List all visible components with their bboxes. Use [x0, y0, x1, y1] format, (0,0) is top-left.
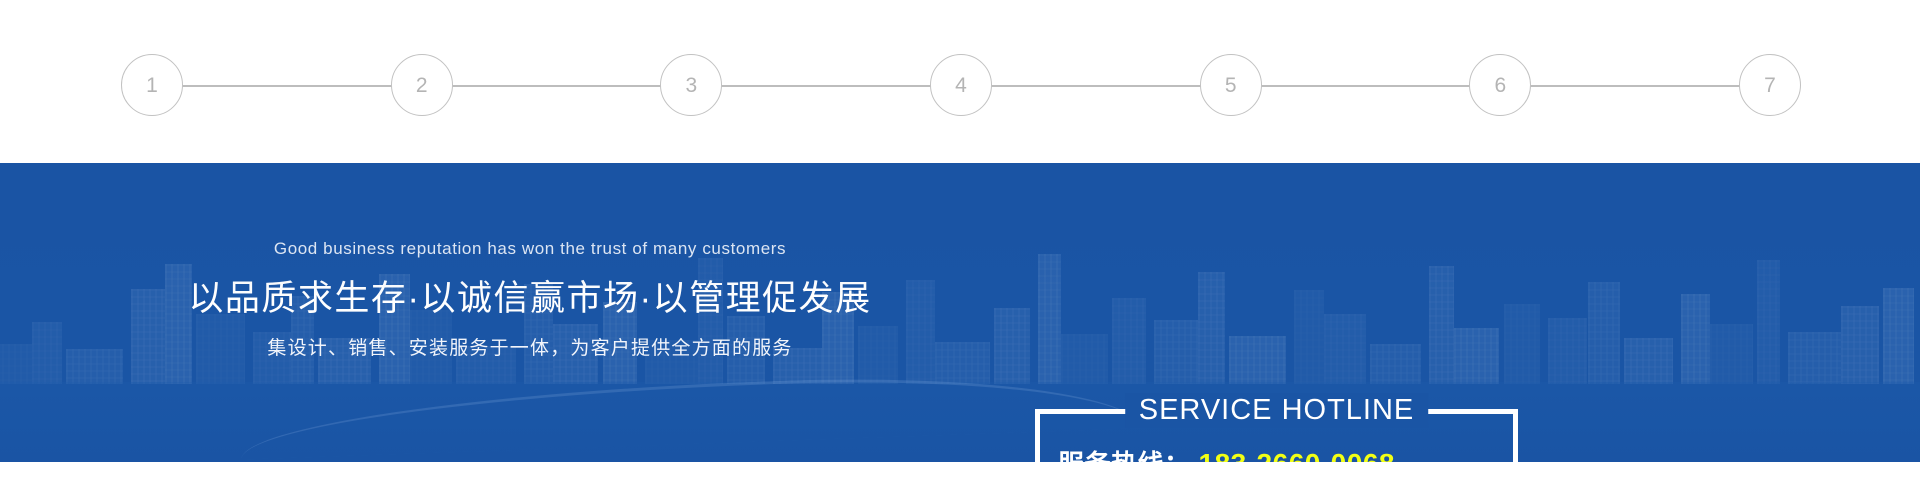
step-connector-line: [991, 85, 1201, 87]
skyline-building: [1841, 306, 1879, 384]
step-connector-line: [182, 85, 392, 87]
skyline-building: [1294, 290, 1324, 384]
skyline-building: [1429, 266, 1454, 384]
skyline-building: [1454, 328, 1500, 384]
skyline-building: [1370, 344, 1421, 384]
slogan-headline: 以品质求生存·以诚信赢市场·以管理促发展: [0, 277, 1060, 321]
hotline-content: 服务热线： 183-2660-0068 0551-63749777: [1040, 444, 1513, 462]
skyline-building: [1710, 324, 1754, 384]
step-connector-line: [1530, 85, 1740, 87]
skyline-building: [1504, 304, 1540, 384]
step-label: 4: [955, 75, 967, 96]
step-circle-2[interactable]: 2: [391, 54, 453, 116]
step-circle-1[interactable]: 1: [121, 54, 183, 116]
slogan-subtitle: 集设计、销售、安装服务于一体，为客户提供全方面的服务: [0, 337, 1060, 362]
step-label: 2: [416, 75, 428, 96]
step-label: 3: [685, 75, 697, 96]
top-section: 1234567: [0, 0, 1920, 163]
step-label: 5: [1225, 75, 1237, 96]
skyline-building: [1112, 298, 1146, 384]
skyline-building: [1681, 294, 1710, 384]
step-circle-5[interactable]: 5: [1200, 54, 1262, 116]
step-progress-indicator[interactable]: 1234567: [0, 54, 1920, 118]
hotline-primary-row: 服务热线： 183-2660-0068: [1058, 444, 1495, 462]
promo-banner: Good business reputation has won the tru…: [0, 163, 1920, 462]
skyline-building: [1154, 320, 1198, 384]
slogan-block: Good business reputation has won the tru…: [0, 239, 1060, 362]
slogan-english: Good business reputation has won the tru…: [0, 239, 1060, 259]
skyline-building: [1229, 336, 1286, 384]
step-circle-6[interactable]: 6: [1469, 54, 1531, 116]
hotline-number-primary[interactable]: 183-2660-0068: [1199, 448, 1395, 462]
step-label: 6: [1494, 75, 1506, 96]
skyline-building: [1757, 260, 1780, 384]
step-circle-4[interactable]: 4: [930, 54, 992, 116]
step-connector-line: [452, 85, 662, 87]
skyline-building: [1588, 282, 1620, 384]
skyline-building: [1624, 338, 1673, 384]
step-label: 7: [1764, 75, 1776, 96]
step-connector-line: [721, 85, 931, 87]
skyline-building: [1883, 288, 1913, 384]
skyline-building: [1548, 318, 1588, 384]
step-connector-line: [1261, 85, 1471, 87]
step-circle-7[interactable]: 7: [1739, 54, 1801, 116]
skyline-building: [1324, 314, 1366, 384]
step-label: 1: [146, 75, 158, 96]
hotline-title: SERVICE HOTLINE: [1125, 393, 1429, 428]
hotline-label: 服务热线：: [1058, 444, 1191, 462]
step-circle-3[interactable]: 3: [660, 54, 722, 116]
service-hotline-box: SERVICE HOTLINE 服务热线： 183-2660-0068 0551…: [1035, 409, 1518, 462]
skyline-building: [1061, 334, 1109, 384]
bottom-white-strip: [0, 462, 1920, 500]
skyline-building: [1198, 272, 1225, 384]
skyline-building: [1788, 332, 1841, 384]
